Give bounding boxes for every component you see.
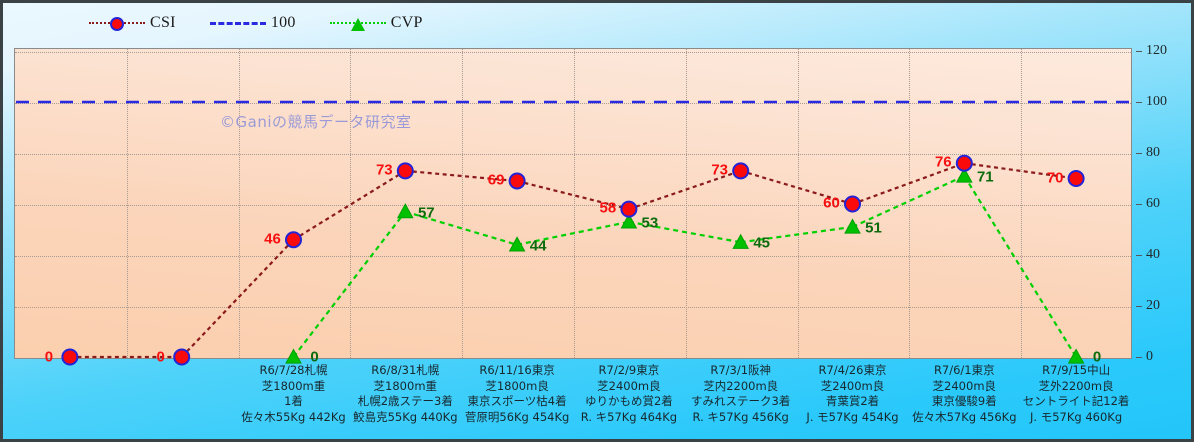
y-tick-mark-100: [1136, 102, 1142, 103]
x-category-line-4: 佐々木57Kg 456Kg: [908, 410, 1020, 426]
cvp-line-segment: [517, 222, 629, 245]
x-category-label: R7/2/9東京芝2400m良ゆりかもめ賞2着R. キ57Kg 464Kg: [573, 363, 685, 425]
x-category-line-1: R7/9/15中山: [1020, 363, 1132, 379]
x-category-line-4: 菅原明56Kg 454Kg: [461, 410, 573, 426]
y-axis: 020406080100120: [1136, 48, 1194, 361]
y-tick-mark-40: [1136, 255, 1142, 256]
csi-marker-circle: [1069, 171, 1084, 186]
x-category-label: R7/6/1東京芝2400m良東京優駿9着佐々木57Kg 456Kg: [908, 363, 1020, 425]
cvp-marker-triangle: [1069, 350, 1084, 364]
csi-marker-circle: [957, 156, 972, 171]
x-category-line-1: R6/7/28札幌: [238, 363, 350, 379]
cvp-line-segment: [405, 212, 517, 245]
x-category-label: R6/7/28札幌芝1800m重1着佐々木55Kg 442Kg: [238, 363, 350, 425]
x-category-label: R6/11/16東京芝1800m良東京スポーツ枯4着菅原明56Kg 454Kg: [461, 363, 573, 425]
y-tick-mark-20: [1136, 306, 1142, 307]
x-category-line-3: すみれステーク3着: [685, 394, 797, 410]
y-tick-mark-60: [1136, 204, 1142, 205]
x-category-line-3: ゆりかもめ賞2着: [573, 394, 685, 410]
x-category-line-3: セントライト記12着: [1020, 394, 1132, 410]
x-category-line-2: 芝2400m良: [908, 379, 1020, 395]
cvp-marker-triangle: [286, 350, 301, 364]
x-category-label: R7/4/26東京芝2400m良青葉賞2着J. モ57Kg 454Kg: [797, 363, 909, 425]
y-tick-label-100: 100: [1146, 94, 1167, 110]
y-tick-label-80: 80: [1146, 145, 1160, 161]
x-category-label: R6/8/31札幌芝1800m重札幌2歳ステー3着鮫島克55Kg 440Kg: [349, 363, 461, 425]
x-category-line-2: 芝2400m良: [573, 379, 685, 395]
x-category-line-1: R7/4/26東京: [797, 363, 909, 379]
x-category-line-2: 芝1800m良: [461, 379, 573, 395]
y-tick-mark-0: [1136, 357, 1142, 358]
x-category-line-3: 青葉賞2着: [797, 394, 909, 410]
csi-line-segment: [741, 171, 853, 204]
y-tick-label-0: 0: [1146, 349, 1153, 365]
csi-line-segment: [294, 171, 406, 240]
x-axis-labels: R6/7/28札幌芝1800m重1着佐々木55Kg 442KgR6/8/31札幌…: [14, 363, 1132, 441]
x-category-line-2: 芝内2200m良: [685, 379, 797, 395]
cvp-line-segment: [964, 176, 1076, 357]
x-category-line-3: 札幌2歳ステー3着: [349, 394, 461, 410]
x-category-line-1: R6/11/16東京: [461, 363, 573, 379]
csi-marker-circle: [398, 163, 413, 178]
csi-marker-circle: [845, 197, 860, 212]
csi-marker-circle: [621, 202, 636, 217]
x-category-line-1: R7/2/9東京: [573, 363, 685, 379]
x-category-line-2: 芝外2200m良: [1020, 379, 1132, 395]
csi-marker-circle: [286, 232, 301, 247]
x-category-line-4: R. キ57Kg 464Kg: [573, 410, 685, 426]
chart-window: CSI 100 CVP ©Ganiの競馬データ研究室 0046736958736…: [0, 0, 1194, 442]
cvp-line-segment: [629, 222, 741, 242]
x-category-line-4: 佐々木55Kg 442Kg: [238, 410, 350, 426]
cvp-marker-triangle: [398, 204, 413, 218]
csi-marker-circle: [733, 163, 748, 178]
x-category-line-1: R7/3/1阪神: [685, 363, 797, 379]
x-category-line-3: 東京スポーツ枯4着: [461, 394, 573, 410]
x-category-line-4: J. モ57Kg 454Kg: [797, 410, 909, 426]
y-tick-label-120: 120: [1146, 43, 1167, 59]
x-category-label: R7/3/1阪神芝内2200m良すみれステーク3着R. キ57Kg 456Kg: [685, 363, 797, 425]
csi-marker-circle: [510, 174, 525, 189]
y-tick-label-60: 60: [1146, 196, 1160, 212]
csi-line-segment: [405, 171, 517, 181]
y-tick-label-40: 40: [1146, 247, 1160, 263]
x-category-line-1: R6/8/31札幌: [349, 363, 461, 379]
x-category-label: R7/9/15中山芝外2200m良セントライト記12着J. モ57Kg 460K…: [1020, 363, 1132, 425]
y-tick-mark-80: [1136, 153, 1142, 154]
x-category-line-1: R7/6/1東京: [908, 363, 1020, 379]
y-tick-mark-120: [1136, 51, 1142, 52]
cvp-line-segment: [853, 176, 965, 227]
cvp-line-segment: [294, 212, 406, 357]
x-category-line-2: 芝1800m重: [238, 379, 350, 395]
cvp-marker-triangle: [845, 219, 860, 233]
x-category-line-2: 芝2400m良: [797, 379, 909, 395]
x-category-line-4: J. モ57Kg 460Kg: [1020, 410, 1132, 426]
x-category-line-4: R. キ57Kg 456Kg: [685, 410, 797, 426]
x-category-line-3: 1着: [238, 394, 350, 410]
x-category-line-4: 鮫島克55Kg 440Kg: [349, 410, 461, 426]
x-category-line-3: 東京優駿9着: [908, 394, 1020, 410]
csi-line-segment: [629, 171, 741, 209]
csi-line-segment: [517, 181, 629, 209]
csi-line-segment: [964, 163, 1076, 178]
y-tick-label-20: 20: [1146, 298, 1160, 314]
cvp-line-segment: [741, 227, 853, 242]
csi-line-segment: [182, 240, 294, 357]
x-category-line-2: 芝1800m重: [349, 379, 461, 395]
